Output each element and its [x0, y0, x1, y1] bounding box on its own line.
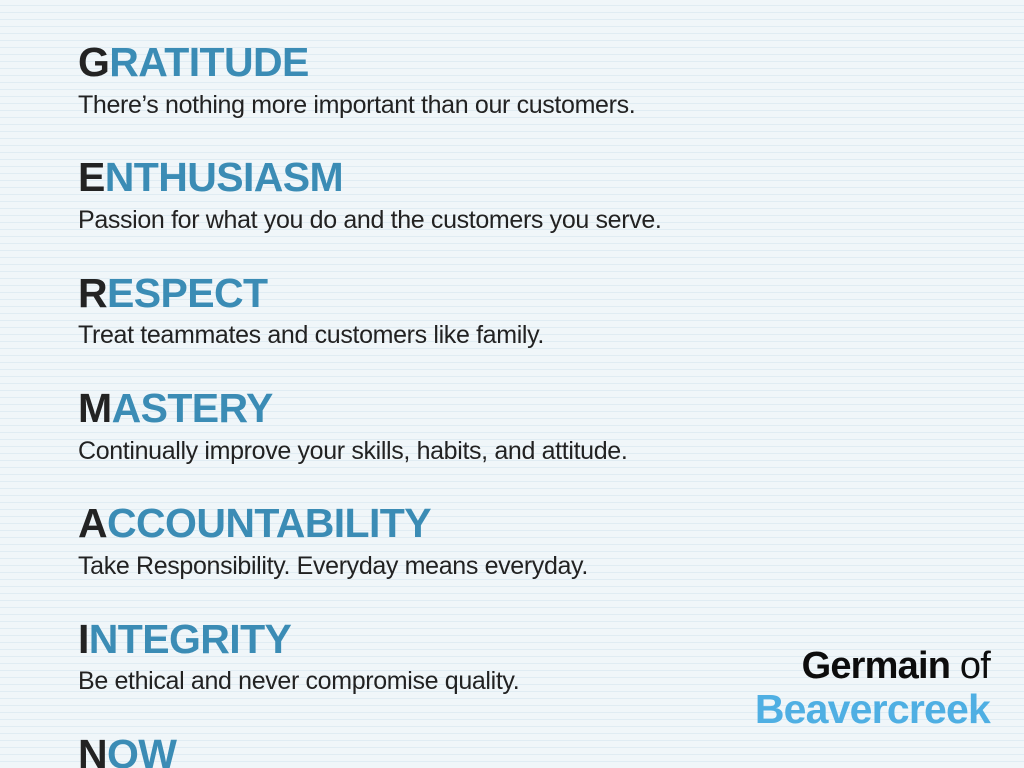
value-heading-rest: NTEGRITY: [89, 616, 291, 662]
logo-connector-text: of: [960, 645, 990, 687]
value-tagline: Take Responsibility. Everyday means ever…: [78, 552, 990, 581]
value-heading: GRATITUDE: [78, 42, 990, 84]
value-tagline: Continually improve your skills, habits,…: [78, 437, 990, 466]
value-block-mastery: MASTERY Continually improve your skills,…: [78, 388, 990, 465]
logo-name: Germain: [802, 645, 951, 687]
value-block-enthusiasm: ENTHUSIASM Passion for what you do and t…: [78, 157, 990, 234]
logo-location: Beavercreek: [755, 689, 990, 730]
value-heading: ACCOUNTABILITY: [78, 503, 990, 545]
value-heading-initial: G: [78, 39, 109, 85]
value-heading-rest: ASTERY: [112, 385, 273, 431]
value-heading-initial: I: [78, 616, 89, 662]
value-heading-rest: ESPECT: [107, 270, 267, 316]
dealership-logo: Germain of Beavercreek: [755, 647, 990, 730]
value-block-gratitude: GRATITUDE There’s nothing more important…: [78, 42, 990, 119]
value-heading-initial: M: [78, 385, 112, 431]
value-heading: NOW: [78, 734, 990, 768]
value-heading-initial: R: [78, 270, 107, 316]
value-block-respect: RESPECT Treat teammates and customers li…: [78, 273, 990, 350]
value-heading: MASTERY: [78, 388, 990, 430]
value-block-accountability: ACCOUNTABILITY Take Responsibility. Ever…: [78, 503, 990, 580]
logo-line-primary: Germain of: [755, 647, 990, 685]
value-heading-rest: NTHUSIASM: [105, 154, 343, 200]
values-poster: GRATITUDE There’s nothing more important…: [0, 0, 1024, 768]
value-tagline: There’s nothing more important than our …: [78, 91, 990, 120]
value-tagline: Treat teammates and customers like famil…: [78, 321, 990, 350]
value-tagline: Passion for what you do and the customer…: [78, 206, 990, 235]
value-block-now: NOW Act with urgency.: [78, 734, 990, 768]
logo-connector: of: [950, 645, 990, 687]
value-heading: RESPECT: [78, 273, 990, 315]
value-heading-initial: N: [78, 731, 107, 768]
value-heading: ENTHUSIASM: [78, 157, 990, 199]
value-heading-initial: E: [78, 154, 105, 200]
value-heading-rest: OW: [107, 731, 176, 768]
value-heading-initial: A: [78, 500, 107, 546]
value-heading-rest: CCOUNTABILITY: [107, 500, 431, 546]
value-heading-rest: RATITUDE: [109, 39, 308, 85]
